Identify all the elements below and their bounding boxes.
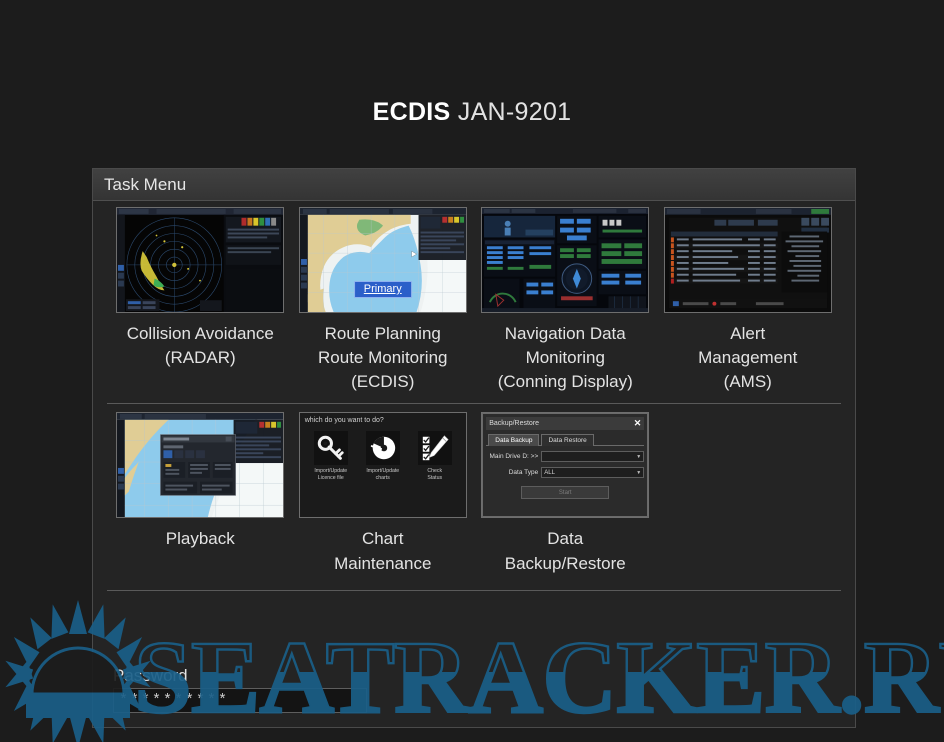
backup-restore-titlebar: Backup/Restore ✕ — [486, 417, 644, 430]
tile-label-alert-management: Alert Management (AMS) — [698, 322, 797, 394]
backup-restore-title: Backup/Restore — [489, 420, 539, 427]
action-import-licence[interactable]: Import/Update Licence file — [308, 431, 354, 482]
chart-maintenance-thumbnail[interactable]: which do you want to do? — [299, 412, 467, 518]
tile-chart-maintenance[interactable]: which do you want to do? — [292, 412, 475, 575]
action-label-check-status: Check Status — [412, 468, 458, 482]
tab-data-restore[interactable]: Data Restore — [541, 434, 593, 446]
key-icon — [314, 431, 348, 465]
task-menu-panel: Task Menu — [92, 168, 856, 728]
tile-label-route-planning: Route Planning Route Monitoring (ECDIS) — [318, 322, 447, 394]
backup-restore-dialog: Backup/Restore ✕ Data Backup Data Restor… — [482, 413, 648, 517]
page-title: ECDIS JAN-9201 — [0, 98, 944, 127]
task-tile-row-1: Collision Avoidance (RADAR) — [93, 201, 855, 394]
tile-navigation-data[interactable]: Navigation Data Monitoring (Conning Disp… — [474, 207, 657, 394]
chevron-down-icon: ▼ — [636, 470, 641, 476]
chart-maintenance-question: which do you want to do? — [305, 417, 461, 424]
task-menu-titlebar: Task Menu — [93, 169, 855, 201]
field-main-drive: Main Drive D: >> ▼ — [486, 451, 644, 462]
password-label: Password — [113, 666, 841, 686]
tile-empty-slot — [657, 412, 840, 575]
task-menu-body: Collision Avoidance (RADAR) — [93, 201, 855, 727]
action-label-import-charts: Import/Update charts — [360, 468, 406, 482]
chart-maintenance-dialog: which do you want to do? — [300, 413, 466, 517]
chevron-down-icon: ▼ — [636, 454, 641, 460]
tab-data-backup[interactable]: Data Backup — [488, 434, 539, 446]
checklist-pencil-icon — [418, 431, 452, 465]
radar-screen-thumbnail[interactable] — [116, 207, 284, 313]
action-label-import-licence: Import/Update Licence file — [308, 468, 354, 482]
app-model: JAN-9201 — [458, 98, 572, 126]
tile-data-backup-restore[interactable]: Backup/Restore ✕ Data Backup Data Restor… — [474, 412, 657, 575]
password-divider — [107, 590, 841, 591]
tile-label-collision-avoidance: Collision Avoidance (RADAR) — [127, 322, 274, 370]
playback-chart-thumbnail[interactable] — [116, 412, 284, 518]
tile-playback[interactable]: Playback — [109, 412, 292, 575]
field-label-data-type: Data Type — [486, 469, 538, 476]
tile-label-chart-maintenance: Chart Maintenance — [334, 527, 431, 575]
alert-list-thumbnail[interactable] — [664, 207, 832, 313]
task-tile-row-2: Playback which do you want to do? — [93, 404, 855, 575]
tile-route-planning[interactable]: Primary Route Planning Route Monitoring … — [292, 207, 475, 394]
ecdis-chart-thumbnail[interactable]: Primary — [299, 207, 467, 313]
tile-label-data-backup-restore: Data Backup/Restore — [505, 527, 626, 575]
app-brand: ECDIS — [373, 98, 451, 126]
disc-icon — [366, 431, 400, 465]
close-icon[interactable]: ✕ — [634, 418, 642, 429]
primary-badge: Primary — [354, 281, 412, 298]
backup-restore-thumbnail[interactable]: Backup/Restore ✕ Data Backup Data Restor… — [481, 412, 649, 518]
task-menu-title: Task Menu — [104, 175, 186, 195]
data-type-value: ALL — [544, 470, 555, 476]
action-check-status[interactable]: Check Status — [412, 431, 458, 482]
password-area: Password ********** — [107, 666, 841, 713]
field-label-main-drive: Main Drive D: >> — [486, 453, 538, 460]
chart-maintenance-actions: Import/Update Licence file — [305, 431, 461, 482]
tile-label-navigation-data: Navigation Data Monitoring (Conning Disp… — [498, 322, 633, 394]
tile-collision-avoidance[interactable]: Collision Avoidance (RADAR) — [109, 207, 292, 394]
tile-label-playback: Playback — [166, 527, 235, 551]
action-import-charts[interactable]: Import/Update charts — [360, 431, 406, 482]
field-data-type: Data Type ALL ▼ — [486, 467, 644, 478]
data-type-dropdown[interactable]: ALL ▼ — [541, 467, 644, 478]
main-drive-dropdown[interactable]: ▼ — [541, 451, 644, 462]
start-button[interactable]: Start — [521, 486, 609, 499]
tile-alert-management[interactable]: Alert Management (AMS) — [657, 207, 840, 394]
conning-display-thumbnail[interactable] — [481, 207, 649, 313]
password-input[interactable]: ********** — [113, 688, 367, 713]
